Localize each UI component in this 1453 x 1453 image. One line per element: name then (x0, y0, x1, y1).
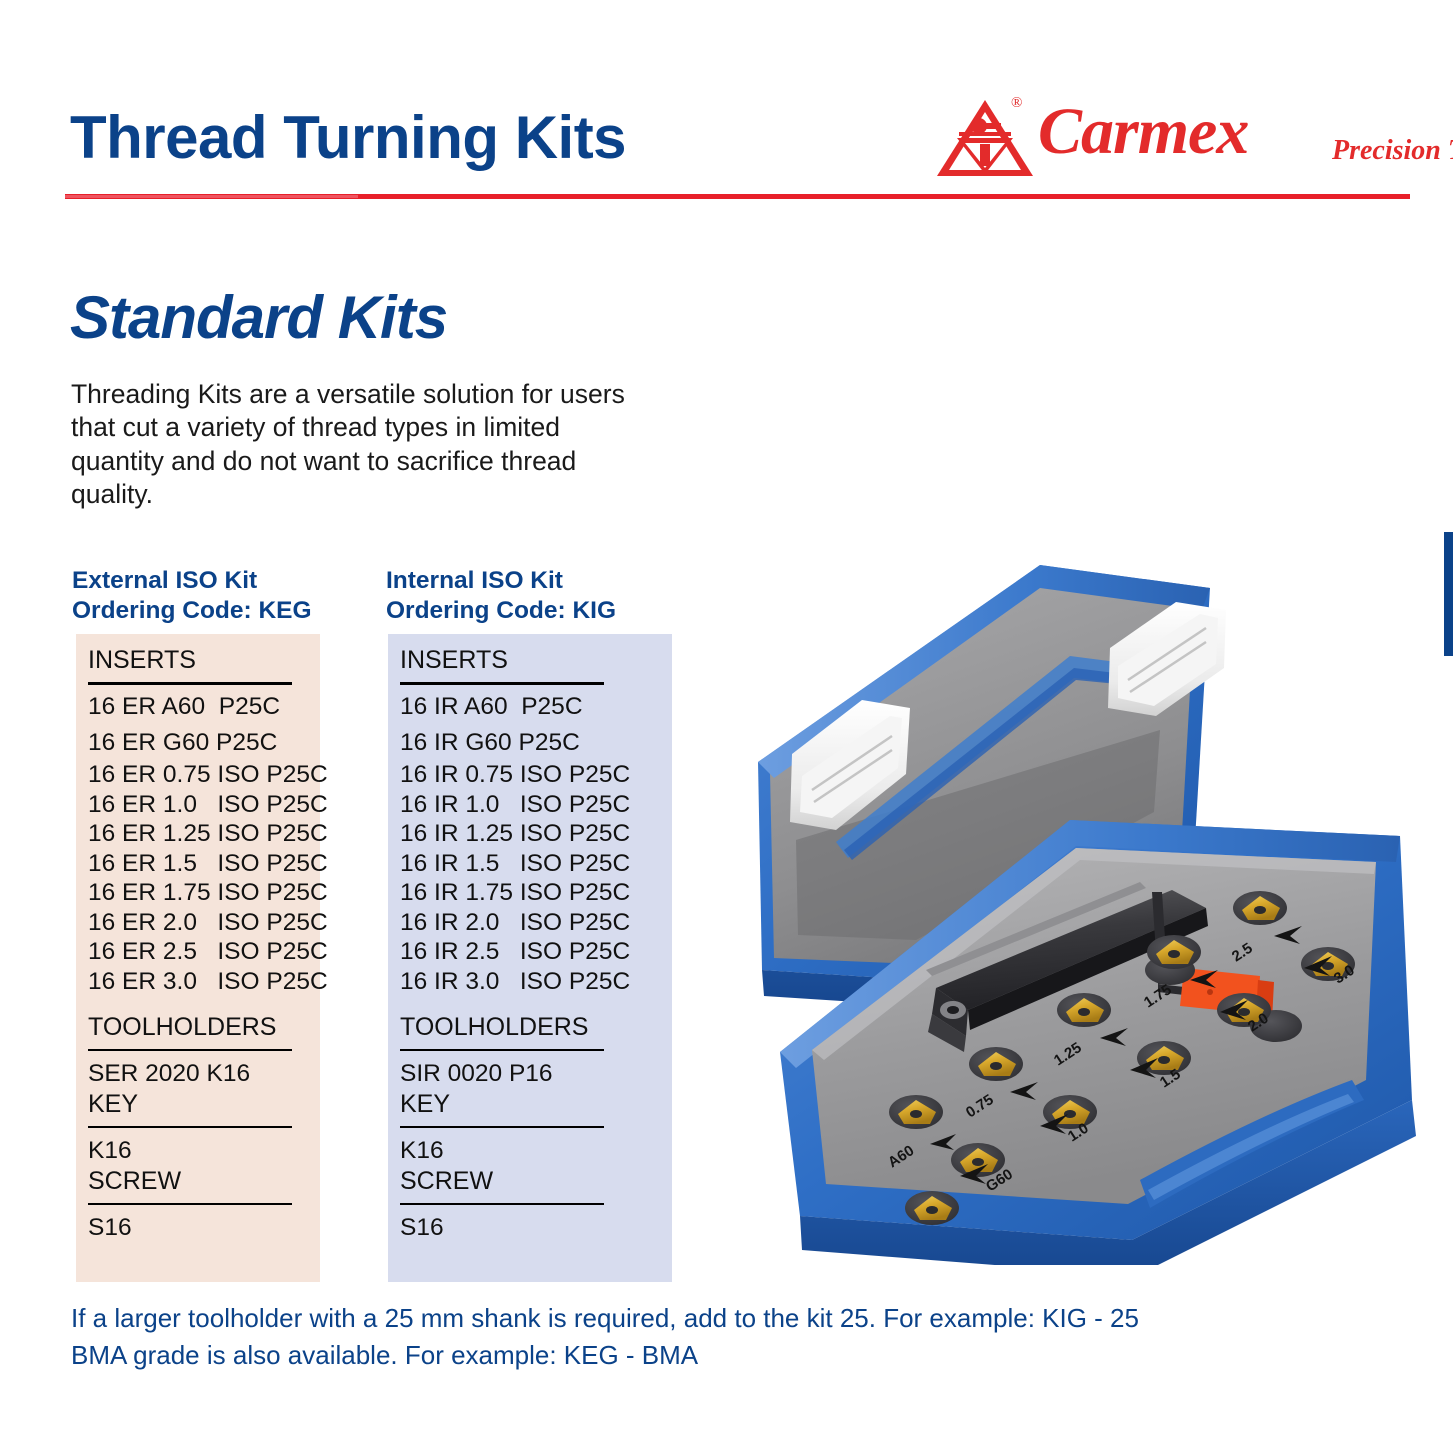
group-label: KEY (400, 1092, 672, 1126)
divider (400, 682, 604, 685)
table-row: 16 ER 2.0 ISO P25C (88, 908, 320, 938)
table-row: SIR 0020 P16 (400, 1056, 672, 1092)
table-row: 16 IR 1.75 ISO P25C (400, 879, 672, 909)
section-description: Threading Kits are a versatile solution … (71, 378, 631, 512)
spacer (88, 997, 320, 1015)
table-row: 16 ER 1.0 ISO P25C (88, 790, 320, 820)
kit-table-internal: INSERTS 16 IR A60 P25C 16 IR G60 P25C 16… (388, 634, 672, 1282)
table-row: 16 ER G60 P25C (88, 725, 320, 761)
footer-note-line-2: BMA grade is also available. For example… (71, 1337, 1231, 1374)
group-label: SCREW (88, 1169, 320, 1203)
divider (400, 1049, 604, 1052)
footer-note-line-1: If a larger toolholder with a 25 mm shan… (71, 1300, 1231, 1337)
divider (88, 682, 292, 685)
group-label: SCREW (400, 1169, 672, 1203)
group-label: TOOLHOLDERS (88, 1015, 320, 1049)
logo-wordmark: Carmex (1038, 99, 1248, 165)
divider (400, 1203, 604, 1206)
table-row: 16 IR 2.0 ISO P25C (400, 908, 672, 938)
table-row: S16 (88, 1210, 320, 1246)
table-row: 16 IR 0.75 ISO P25C (400, 761, 672, 791)
table-row: 16 IR G60 P25C (400, 725, 672, 761)
table-row: 16 ER A60 P25C (88, 690, 320, 726)
table-row: 16 ER 0.75 ISO P25C (88, 761, 320, 791)
table-row: K16 (400, 1133, 672, 1169)
insert-175 (1147, 935, 1201, 969)
carmex-logo: ® Carmex Precision Tools Ltd. (935, 95, 1435, 185)
table-row: S16 (400, 1210, 672, 1246)
table-row: 16 IR 2.5 ISO P25C (400, 938, 672, 968)
logo-tagline: Precision Tools Ltd. (1332, 135, 1453, 167)
table-row: 16 ER 1.5 ISO P25C (88, 849, 320, 879)
group-label: TOOLHOLDERS (400, 1015, 672, 1049)
footer-note: If a larger toolholder with a 25 mm shan… (71, 1300, 1231, 1374)
divider (88, 1049, 292, 1052)
table-row: 16 ER 1.25 ISO P25C (88, 820, 320, 850)
table-row: 16 ER 2.5 ISO P25C (88, 938, 320, 968)
table-row: SER 2020 K16 (88, 1056, 320, 1092)
table-row: 16 ER 3.0 ISO P25C (88, 967, 320, 997)
table-row: 16 IR 1.0 ISO P25C (400, 790, 672, 820)
insert-a60 (889, 1095, 943, 1129)
insert-extra (905, 1191, 959, 1225)
insert-25 (1233, 891, 1287, 925)
kit-heading-internal: Internal ISO Kit Ordering Code: KIG (386, 566, 616, 627)
table-row: 16 ER 1.75 ISO P25C (88, 879, 320, 909)
product-photo-threading-kit-case: A60 G60 0.75 1.0 1.25 1.5 1.75 2.0 2.5 3… (740, 540, 1440, 1265)
table-row: 16 IR 3.0 ISO P25C (400, 967, 672, 997)
divider (400, 1126, 604, 1129)
table-row: 16 IR A60 P25C (400, 690, 672, 726)
table-row: K16 (88, 1133, 320, 1169)
page-edge-tab (1444, 532, 1453, 656)
kit-heading-external: External ISO Kit Ordering Code: KEG (72, 566, 312, 627)
section-title: Standard Kits (70, 288, 447, 348)
group-label: INSERTS (88, 648, 320, 682)
insert-125 (1057, 993, 1111, 1027)
group-label: KEY (88, 1092, 320, 1126)
header-divider-accent (65, 195, 358, 198)
spacer (400, 997, 672, 1015)
registered-trademark-icon: ® (1011, 95, 1022, 112)
divider (88, 1203, 292, 1206)
divider (88, 1126, 292, 1129)
table-row: 16 IR 1.5 ISO P25C (400, 849, 672, 879)
table-row: 16 IR 1.25 ISO P25C (400, 820, 672, 850)
insert-075 (969, 1047, 1023, 1081)
kit-table-external: INSERTS 16 ER A60 P25C 16 ER G60 P25C 16… (76, 634, 320, 1282)
page-title: Thread Turning Kits (70, 108, 626, 168)
group-label: INSERTS (400, 648, 672, 682)
